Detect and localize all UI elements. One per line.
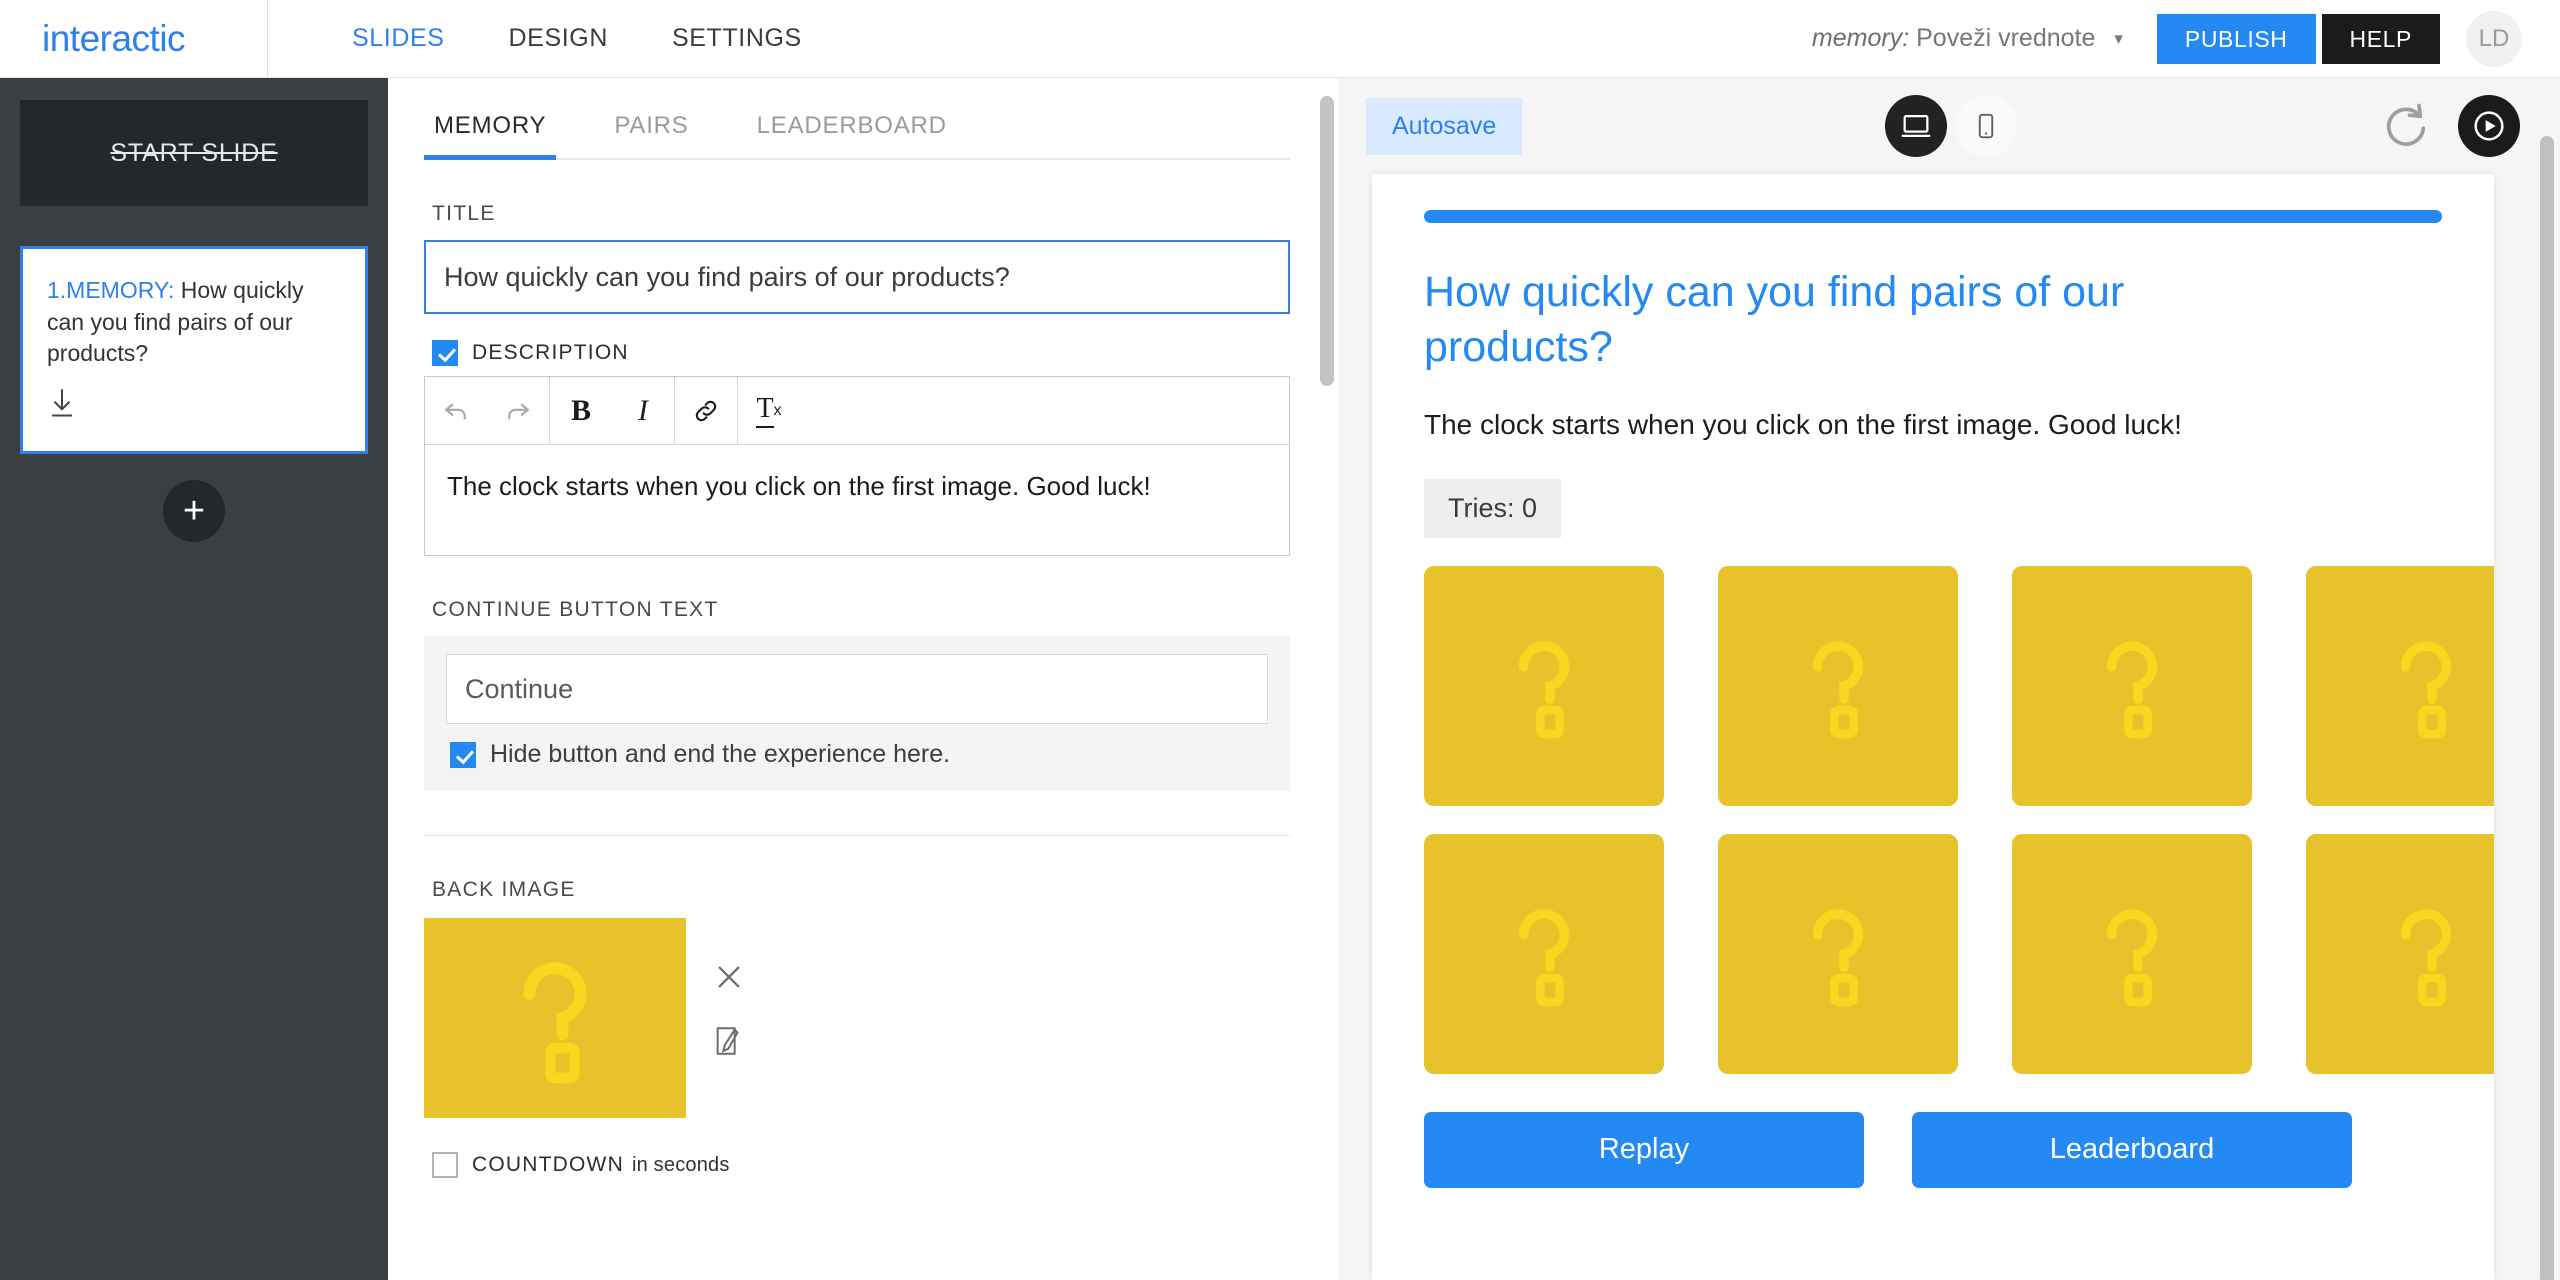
link-icon[interactable] xyxy=(675,377,737,444)
tries-badge: Tries: 0 xyxy=(1424,479,1561,538)
main-nav: SLIDES DESIGN SETTINGS xyxy=(268,24,834,53)
back-image-thumbnail[interactable] xyxy=(424,918,686,1118)
countdown-sub-label: in seconds xyxy=(632,1154,730,1177)
memory-card[interactable] xyxy=(2306,834,2494,1074)
plus-icon: + xyxy=(183,492,205,530)
editor-scrollbar-thumb[interactable] xyxy=(1320,96,1334,386)
mobile-view-button[interactable] xyxy=(1955,95,2017,157)
memory-card[interactable] xyxy=(2012,566,2252,806)
document-type-label: memory: xyxy=(1812,24,1909,52)
stage-actions: Replay Leaderboard xyxy=(1424,1112,2442,1188)
title-input[interactable] xyxy=(424,240,1290,314)
hide-button-row: Hide button and end the experience here. xyxy=(450,740,1268,769)
description-checkbox[interactable] xyxy=(432,340,458,366)
memory-card[interactable] xyxy=(1718,566,1958,806)
description-label: DESCRIPTION xyxy=(472,341,629,365)
preview-scrollbar-track[interactable] xyxy=(2534,78,2560,1280)
back-image-actions xyxy=(712,918,746,1058)
continue-button-label: CONTINUE BUTTON TEXT xyxy=(432,598,1290,622)
stage-title: How quickly can you find pairs of our pr… xyxy=(1424,265,2299,375)
continue-button-panel: Hide button and end the experience here. xyxy=(424,636,1290,791)
progress-bar xyxy=(1424,210,2442,223)
preview-stage: How quickly can you find pairs of our pr… xyxy=(1372,174,2494,1280)
nav-item-settings[interactable]: SETTINGS xyxy=(640,24,834,53)
preview-toolbar-right xyxy=(2380,95,2520,157)
description-editor: B I Tx xyxy=(424,376,1290,556)
tab-pairs[interactable]: PAIRS xyxy=(604,112,698,158)
mobile-icon xyxy=(1971,111,2001,141)
stage-description: The clock starts when you click on the f… xyxy=(1424,405,2340,445)
italic-icon[interactable]: I xyxy=(612,377,674,444)
slide-sidebar: START SLIDE 1.MEMORY: How quickly can yo… xyxy=(0,78,388,1280)
description-textarea[interactable]: The clock starts when you click on the f… xyxy=(425,445,1289,555)
help-button[interactable]: HELP xyxy=(2322,14,2440,64)
nav-item-slides[interactable]: SLIDES xyxy=(320,24,477,53)
document-title-selector[interactable]: memory: Poveži vrednote ▾ xyxy=(1812,24,2123,53)
countdown-checkbox[interactable] xyxy=(432,1152,458,1178)
slide-index-label: 1.MEMORY: xyxy=(47,277,174,303)
brand-logo[interactable]: interactic xyxy=(0,0,268,78)
editor-scrollbar-track[interactable] xyxy=(1316,78,1338,1280)
hide-button-label: Hide button and end the experience here. xyxy=(490,740,950,769)
avatar[interactable]: LD xyxy=(2466,11,2522,67)
app-root: interactic SLIDES DESIGN SETTINGS memory… xyxy=(0,0,2560,1280)
nav-item-design[interactable]: DESIGN xyxy=(477,24,640,53)
continue-text-input[interactable] xyxy=(446,654,1268,724)
rte-link-group xyxy=(675,377,738,444)
add-slide-button[interactable]: + xyxy=(163,480,225,542)
autosave-button[interactable]: Autosave xyxy=(1366,98,1522,155)
document-name-label: Poveži vrednote xyxy=(1916,24,2095,52)
description-toggle-row: DESCRIPTION xyxy=(432,340,1290,366)
question-mark-icon xyxy=(1484,894,1604,1014)
publish-button[interactable]: PUBLISH xyxy=(2157,14,2316,64)
top-bar: interactic SLIDES DESIGN SETTINGS memory… xyxy=(0,0,2560,78)
remove-image-icon[interactable] xyxy=(712,960,746,994)
title-label: TITLE xyxy=(432,202,1290,226)
question-mark-icon xyxy=(2072,626,2192,746)
editor-tabs: MEMORY PAIRS LEADERBOARD xyxy=(424,112,1290,160)
leaderboard-button[interactable]: Leaderboard xyxy=(1912,1112,2352,1188)
edit-image-icon[interactable] xyxy=(712,1024,746,1058)
tab-memory[interactable]: MEMORY xyxy=(424,112,556,158)
rte-toolbar: B I Tx xyxy=(425,377,1289,445)
preview-toolbar: Autosave xyxy=(1338,78,2560,174)
top-bar-right: memory: Poveži vrednote ▾ PUBLISH HELP L… xyxy=(1812,11,2560,67)
question-mark-icon xyxy=(2072,894,2192,1014)
preview-panel: Autosave xyxy=(1338,78,2560,1280)
question-mark-icon xyxy=(480,943,630,1093)
tab-leaderboard[interactable]: LEADERBOARD xyxy=(747,112,957,158)
undo-icon[interactable] xyxy=(425,377,487,444)
device-toggle xyxy=(1885,95,2017,157)
slide-thumbnail-text: 1.MEMORY: How quickly can you find pairs… xyxy=(47,275,341,370)
remove-format-icon[interactable]: Tx xyxy=(738,377,800,444)
memory-card-grid xyxy=(1424,566,2442,1102)
memory-card[interactable] xyxy=(1424,834,1664,1074)
main-body: START SLIDE 1.MEMORY: How quickly can yo… xyxy=(0,78,2560,1280)
redo-icon[interactable] xyxy=(487,377,549,444)
replay-button[interactable]: Replay xyxy=(1424,1112,1864,1188)
refresh-icon[interactable] xyxy=(2380,100,2432,152)
rte-format-group: B I xyxy=(550,377,675,444)
start-slide-card[interactable]: START SLIDE xyxy=(20,100,368,206)
hide-button-checkbox[interactable] xyxy=(450,742,476,768)
memory-card[interactable] xyxy=(1718,834,1958,1074)
play-icon xyxy=(2469,106,2509,146)
bold-icon[interactable]: B xyxy=(550,377,612,444)
memory-card[interactable] xyxy=(1424,566,1664,806)
brand-name: interactic xyxy=(42,18,185,60)
rte-history-group xyxy=(425,377,550,444)
slide-thumbnail-1[interactable]: 1.MEMORY: How quickly can you find pairs… xyxy=(20,246,368,454)
question-mark-icon xyxy=(1484,626,1604,746)
back-image-row xyxy=(424,918,1290,1118)
play-preview-button[interactable] xyxy=(2458,95,2520,157)
question-mark-icon xyxy=(1778,894,1898,1014)
preview-scrollbar-thumb[interactable] xyxy=(2540,136,2554,1280)
question-mark-icon xyxy=(2366,894,2486,1014)
chevron-down-icon: ▾ xyxy=(2114,29,2123,49)
desktop-view-button[interactable] xyxy=(1885,95,1947,157)
editor-content: MEMORY PAIRS LEADERBOARD TITLE DESCRIPTI… xyxy=(388,78,1338,1178)
countdown-label: COUNTDOWN xyxy=(472,1153,624,1177)
desktop-icon xyxy=(1899,109,1933,143)
countdown-row: COUNTDOWN in seconds xyxy=(432,1152,1290,1178)
question-mark-icon xyxy=(2366,626,2486,746)
back-image-label: BACK IMAGE xyxy=(432,878,1290,902)
memory-card[interactable] xyxy=(2012,834,2252,1074)
editor-panel: MEMORY PAIRS LEADERBOARD TITLE DESCRIPTI… xyxy=(388,78,1338,1280)
memory-card[interactable] xyxy=(2306,566,2494,806)
download-icon[interactable] xyxy=(47,386,77,420)
question-mark-icon xyxy=(1778,626,1898,746)
section-divider xyxy=(424,835,1290,836)
